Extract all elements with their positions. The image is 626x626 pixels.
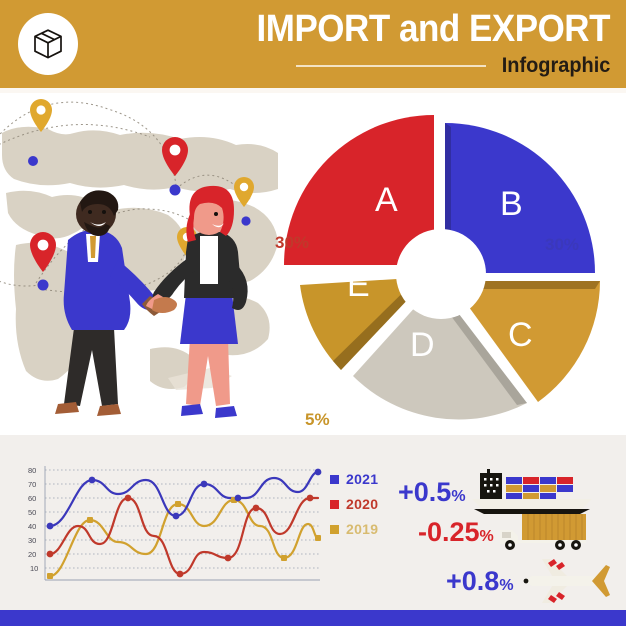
stat-ship-value: +0.5%	[398, 477, 466, 508]
pie-value-e: 5%	[305, 410, 330, 430]
y-tick-60: 60	[28, 494, 36, 503]
series-markers-2019	[47, 497, 321, 579]
footer-bar	[0, 610, 626, 626]
gridlines	[45, 470, 320, 568]
transport-stats: +0.5%	[398, 452, 626, 602]
page-subtitle: Infographic	[501, 54, 610, 78]
legend-label-2020: 2020	[346, 496, 378, 512]
title-divider	[296, 65, 486, 67]
legend-label-2021: 2021	[346, 471, 378, 487]
pie-label-d: D	[410, 326, 435, 364]
legend-item-2020[interactable]: 2020	[330, 496, 378, 512]
legend-item-2019[interactable]: 2019	[330, 521, 378, 537]
page-title: IMPORT and EXPORT	[224, 8, 610, 50]
pie-label-b: B	[500, 185, 523, 223]
line-chart: 80 70 60 50 40 30 20 10	[28, 462, 328, 587]
y-tick-20: 20	[28, 550, 36, 559]
stat-airplane: +0.8%	[446, 557, 616, 605]
stat-airplane-value: +0.8%	[446, 566, 514, 597]
y-tick-30: 30	[28, 536, 36, 545]
cargo-truck-icon	[498, 512, 606, 552]
middle-section: A B C D E	[0, 93, 626, 435]
y-tick-50: 50	[28, 508, 36, 517]
header-banner: IMPORT and EXPORT Infographic	[0, 0, 626, 88]
pie-label-e: E	[347, 266, 370, 304]
y-tick-10: 10	[30, 564, 38, 573]
pie-value-a: 30%	[275, 233, 309, 253]
pie-label-c: C	[508, 316, 533, 354]
legend-swatch-2021	[330, 475, 339, 484]
pie-value-b: 30%	[545, 235, 579, 255]
chart-legend: 2021 2020 2019	[330, 471, 378, 537]
stat-truck-value: -0.25%	[418, 517, 494, 548]
stat-ship: +0.5%	[398, 469, 600, 515]
series-line-2020	[50, 498, 318, 574]
logo-badge	[18, 13, 78, 75]
donut-chart: A B C D E	[255, 93, 626, 435]
y-tick-70: 70	[28, 480, 36, 489]
cargo-ship-icon	[470, 469, 600, 515]
series-markers-2020	[47, 495, 314, 578]
handshake-business-people	[40, 178, 260, 438]
y-tick-40: 40	[28, 522, 36, 531]
cargo-airplane-icon	[518, 557, 616, 605]
y-tick-80: 80	[28, 466, 36, 475]
subtitle-row: Infographic	[190, 54, 610, 78]
legend-swatch-2020	[330, 500, 339, 509]
infographic-page: IMPORT and EXPORT Infographic	[0, 0, 626, 626]
title-block: IMPORT and EXPORT Infographic	[190, 8, 610, 78]
stat-truck: -0.25%	[418, 512, 606, 552]
pie-label-a: A	[375, 181, 398, 219]
legend-swatch-2019	[330, 525, 339, 534]
package-box-icon	[31, 27, 65, 61]
legend-item-2021[interactable]: 2021	[330, 471, 378, 487]
legend-label-2019: 2019	[346, 521, 378, 537]
donut-hole	[396, 229, 486, 319]
